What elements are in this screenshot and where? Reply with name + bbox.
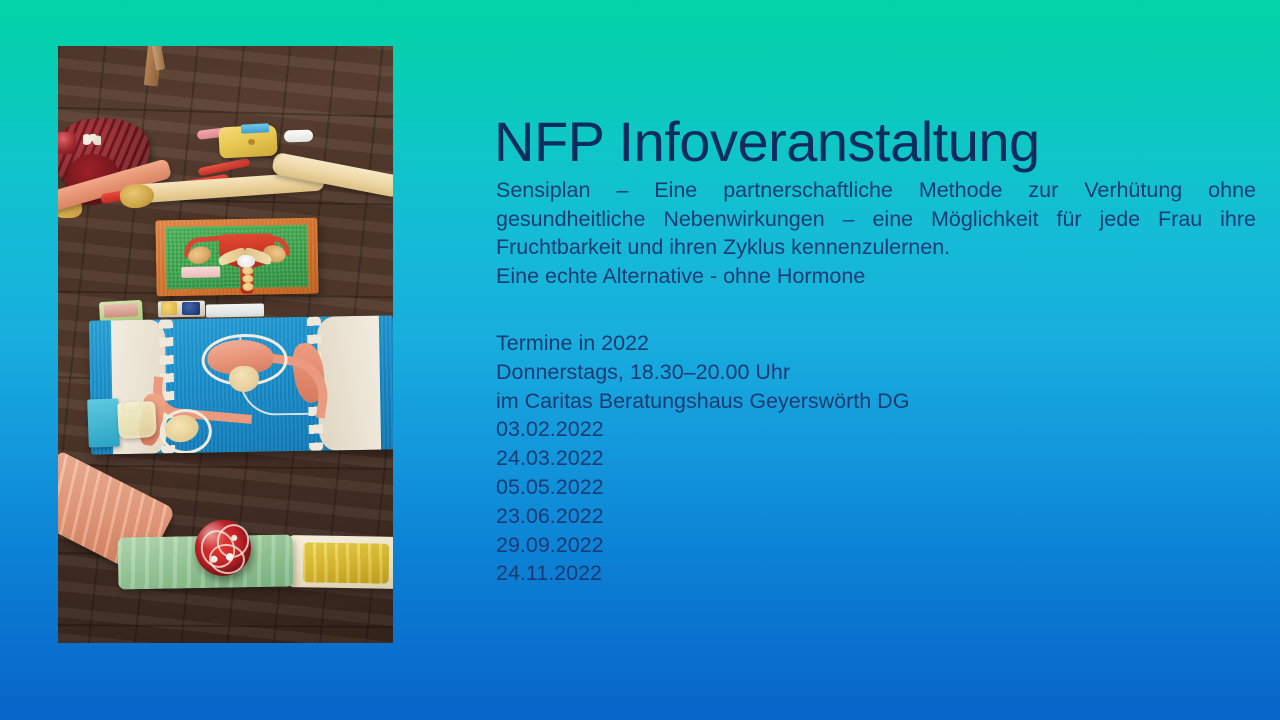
cloth-green-field [165,225,308,289]
lead-paragraph: Sensiplan – Eine partnerschaftliche Meth… [496,176,1256,290]
pouch-blue-label [241,123,269,133]
tray-inner-pink-strip [104,303,139,318]
floor-plank-seam [58,464,393,471]
cyan-card [87,398,120,447]
slide-canvas: NFP Infoveranstaltung Sensiplan – Eine p… [0,0,1280,720]
yellow-beads [161,302,177,315]
red-patterned-ball [195,520,251,576]
floor-plank-seam [58,624,393,628]
event-date: 24.11.2022 [496,559,1236,588]
details-block: Termine in 2022 Donnerstags, 18.30–20.00… [496,329,1236,588]
white-card [206,303,264,317]
details-venue: im Caritas Beratungshaus Geyerswörth DG [496,387,1236,416]
event-date: 23.06.2022 [496,502,1236,531]
cloth-cream-right-panel [317,316,381,451]
blue-beads [182,302,200,315]
details-weekday-time: Donnerstags, 18.30–20.00 Uhr [496,358,1236,387]
event-date: 03.02.2022 [496,415,1236,444]
red-glass-object [58,132,76,154]
lead-justified-text: Sensiplan – Eine partnerschaftliche Meth… [496,178,1256,259]
details-heading: Termine in 2022 [496,329,1236,358]
event-date: 24.03.2022 [496,444,1236,473]
photo-nfp-materials [58,46,393,643]
pink-label-card [181,266,220,278]
lead-closing-line: Eine echte Alternative - ohne Hormone [496,262,1256,291]
white-card [284,129,313,142]
event-date: 29.09.2022 [496,531,1236,560]
wood-floor-background [58,46,393,643]
page-title: NFP Infoveranstaltung [494,112,1264,171]
white-bead-cluster [83,134,101,145]
yellow-cloth-band [303,542,390,583]
pouch-button [248,139,255,145]
event-date: 05.05.2022 [496,473,1236,502]
green-cloth-female-anatomy-model [155,218,318,297]
